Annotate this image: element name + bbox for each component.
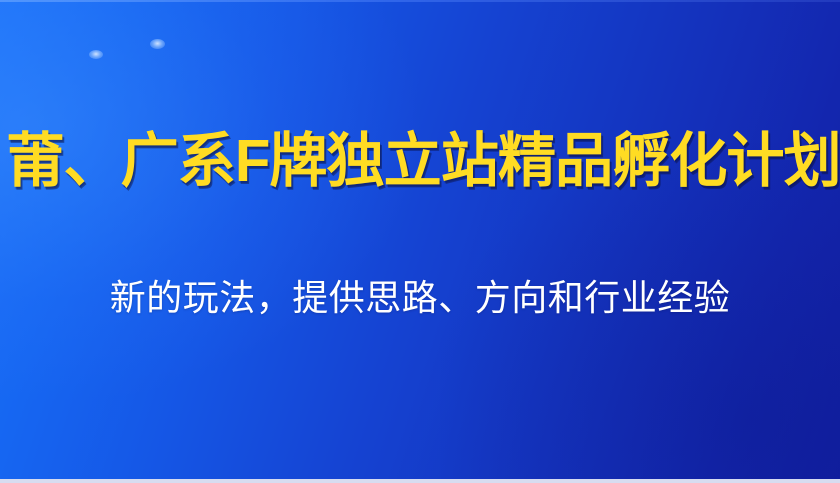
top-highlight-edge [0,0,840,2]
poster-title: 莆、广系F牌独立站精品孵化计划 [6,128,840,194]
title-container: 莆、广系F牌独立站精品孵化计划 [0,128,840,194]
spark-dot-left-icon [89,50,103,59]
poster-subtitle: 新的玩法，提供思路、方向和行业经验 [110,276,731,319]
spark-dot-right-icon [150,39,165,49]
subtitle-container: 新的玩法，提供思路、方向和行业经验 [0,276,840,319]
left-glow-overlay [0,0,420,400]
bottom-light-strip [0,479,840,483]
promo-banner: 莆、广系F牌独立站精品孵化计划 新的玩法，提供思路、方向和行业经验 [0,0,840,483]
